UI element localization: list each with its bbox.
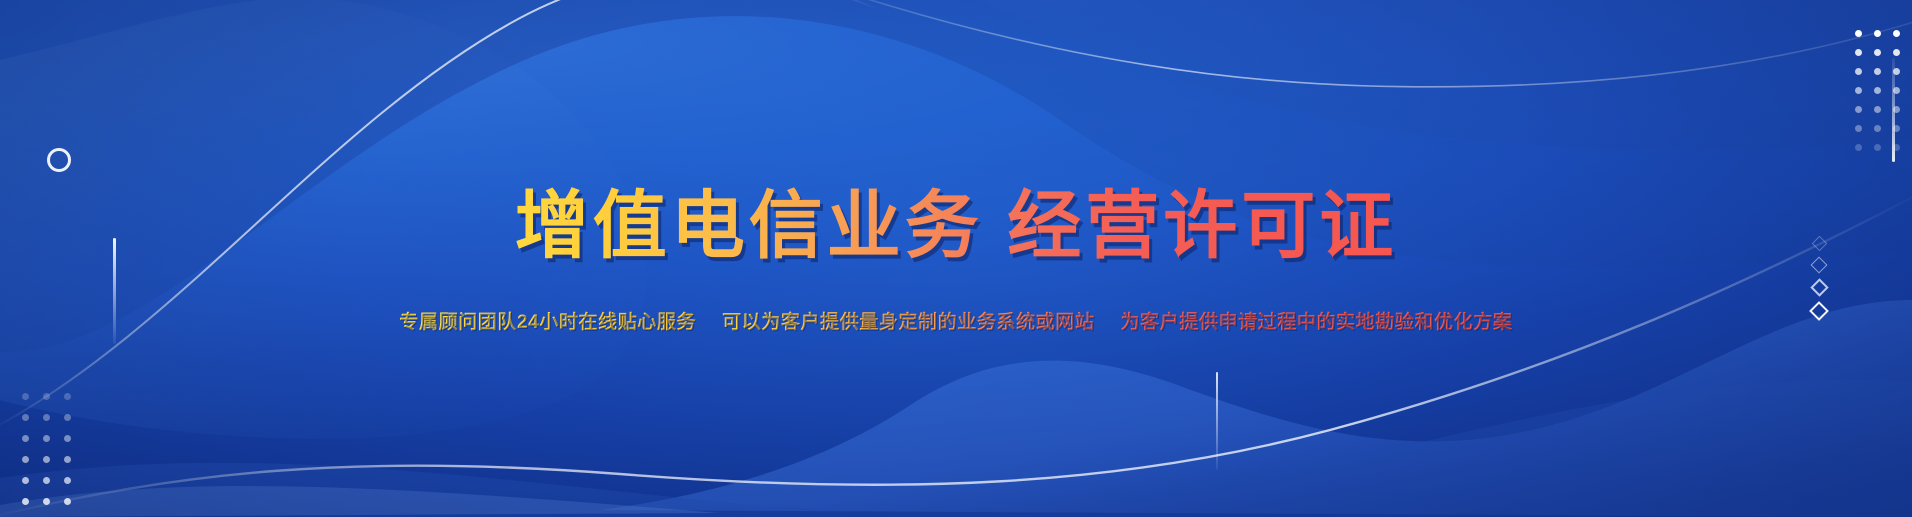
promo-banner: 增值电信业务 经营许可证 专属顾问团队24小时在线贴心服务 可以为客户提供量身定… <box>0 0 1912 517</box>
subtitle-segment-2: 可以为客户提供量身定制的业务系统或网站 <box>722 307 1094 334</box>
banner-content: 增值电信业务 经营许可证 专属顾问团队24小时在线贴心服务 可以为客户提供量身定… <box>0 0 1912 517</box>
banner-subtitle: 专属顾问团队24小时在线贴心服务 可以为客户提供量身定制的业务系统或网站 为客户… <box>399 307 1512 334</box>
subtitle-segment-1: 专属顾问团队24小时在线贴心服务 <box>399 307 696 334</box>
subtitle-segment-3: 为客户提供申请过程中的实地勘验和优化方案 <box>1121 307 1513 334</box>
banner-headline: 增值电信业务 经营许可证 <box>515 183 1398 273</box>
